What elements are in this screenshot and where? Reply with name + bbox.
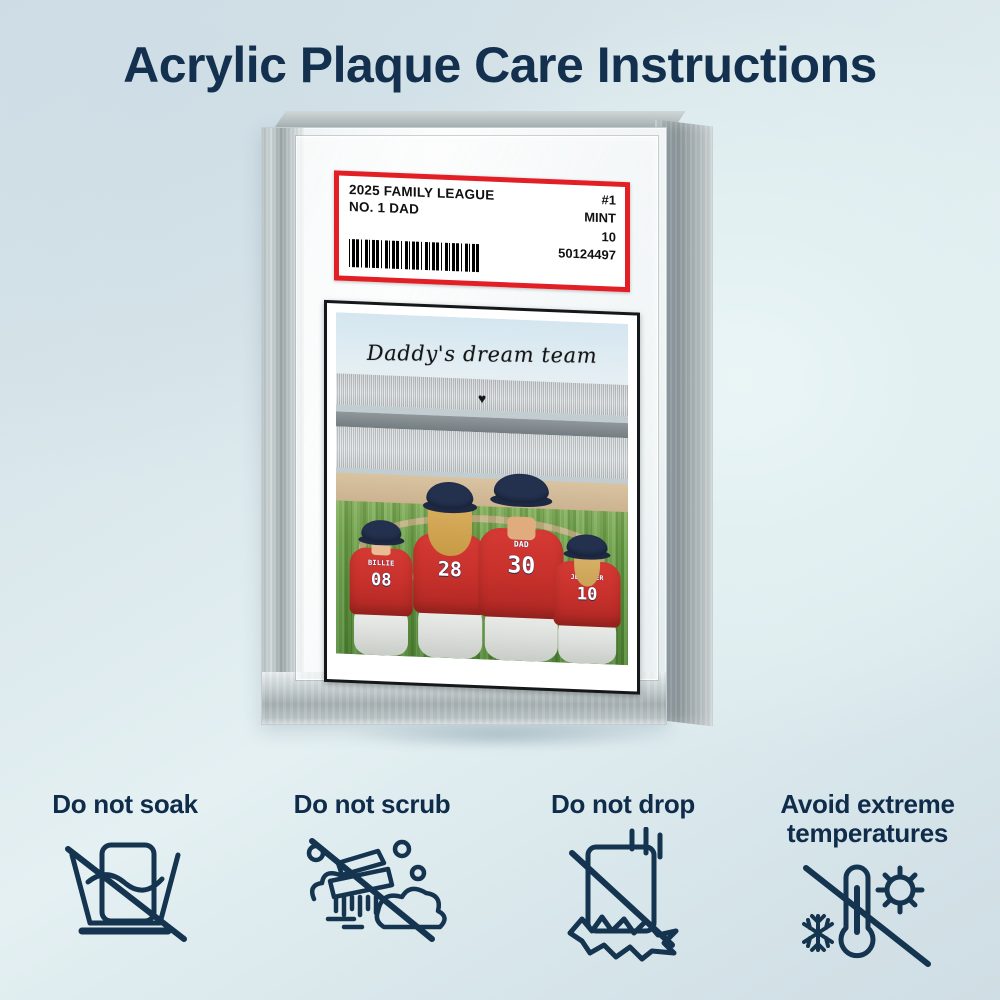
care-item-do-not-drop: Do not drop (508, 790, 738, 962)
care-label-line1: Avoid extreme (740, 790, 995, 819)
care-label-do-not-drop: Do not drop (508, 790, 738, 819)
care-label-do-not-scrub: Do not scrub (257, 790, 487, 819)
care-item-avoid-extreme-temperatures: Avoid extreme temperatures (740, 790, 995, 971)
no-extreme-temperature-icon (740, 856, 995, 971)
grading-rank: #1 (558, 189, 616, 210)
jersey-number: 08 (350, 569, 413, 592)
care-instructions-row: Do not soak Do not scrub (0, 790, 1000, 1000)
jersey: BILLIE 08 (350, 547, 413, 616)
grading-label: 2025 FAMILY LEAGUE NO. 1 DAD #1 MINT 10 … (334, 170, 630, 292)
grading-label-right-column: #1 MINT 10 50124497 (558, 189, 616, 265)
care-label-line2: temperatures (740, 819, 995, 848)
card-artwork-frame: Daddy's dream team ♥ BILLIE 08 (324, 300, 640, 695)
no-scrub-icon (257, 827, 487, 947)
no-drop-icon (508, 827, 738, 962)
acrylic-plaque: 2025 FAMILY LEAGUE NO. 1 DAD #1 MINT 10 … (255, 105, 755, 765)
no-soak-icon (10, 827, 240, 947)
care-item-do-not-soak: Do not soak (10, 790, 240, 947)
jersey-number: 10 (554, 584, 621, 607)
grading-grade-text: MINT (558, 208, 616, 229)
figure-billie: BILLIE 08 (345, 502, 418, 657)
family-figures: BILLIE 08 (336, 442, 628, 665)
plaque-insert: 2025 FAMILY LEAGUE NO. 1 DAD #1 MINT 10 … (310, 139, 640, 704)
figure-jennifer: JENNIFER 10 (549, 514, 625, 665)
jersey-name: BILLIE (350, 558, 413, 569)
grading-serial: 50124497 (558, 245, 616, 266)
care-label-avoid-extreme-temperatures: Avoid extreme temperatures (740, 790, 995, 848)
card-artwork: Daddy's dream team ♥ BILLIE 08 (336, 312, 628, 665)
grading-grade-number: 10 (558, 226, 616, 247)
barcode-icon (349, 239, 479, 272)
product-care-infographic: Acrylic Plaque Care Instructions 2025 FA… (0, 0, 1000, 1000)
page-title: Acrylic Plaque Care Instructions (0, 36, 1000, 94)
card-artwork-mat: Daddy's dream team ♥ BILLIE 08 (327, 303, 637, 691)
cap (426, 481, 473, 510)
neck (508, 516, 535, 540)
care-label-do-not-soak: Do not soak (10, 790, 240, 819)
cap (494, 473, 548, 504)
artwork-headline: Daddy's dream team (336, 340, 628, 368)
cap (567, 534, 608, 558)
cap (362, 519, 401, 543)
plaque-front-face: 2025 FAMILY LEAGUE NO. 1 DAD #1 MINT 10 … (261, 127, 667, 725)
care-item-do-not-scrub: Do not scrub (257, 790, 487, 947)
